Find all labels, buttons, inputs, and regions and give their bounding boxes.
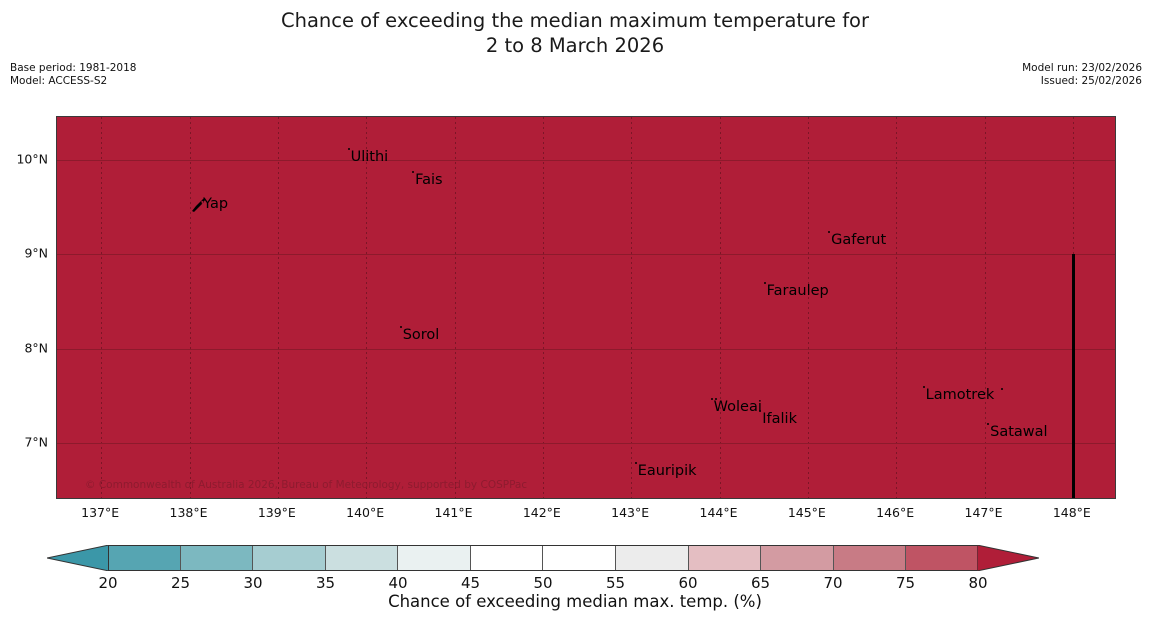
map-gridline-vertical (101, 117, 102, 498)
colorbar-gradient[interactable] (108, 545, 978, 571)
colorbar-segment (834, 545, 907, 571)
colorbar-tick-label: 40 (388, 574, 407, 592)
island-marker (764, 282, 766, 284)
map-plot-area[interactable]: YapUlithiFaisGaferutFaraulepSorolWoleaiI… (56, 116, 1116, 499)
colorbar-axis-label: Chance of exceeding median max. temp. (%… (0, 592, 1150, 611)
x-axis-tick-label: 140°E (346, 505, 384, 520)
x-axis-tick-label: 147°E (964, 505, 1002, 520)
colorbar-tick-label: 35 (316, 574, 335, 592)
y-axis-tick-label: 9°N (48, 246, 72, 261)
island-marker (711, 398, 713, 400)
header-meta-right: Model run: 23/02/2026 Issued: 25/02/2026 (1022, 62, 1142, 88)
map-gridline-vertical (631, 117, 632, 498)
island-marker (1001, 388, 1003, 390)
x-axis-tick-label: 137°E (81, 505, 119, 520)
model-text: Model: ACCESS-S2 (10, 75, 136, 88)
x-axis-tick-label: 143°E (611, 505, 649, 520)
y-axis-tick-label: 10°N (48, 151, 80, 166)
map-gridline-horizontal (57, 443, 1115, 444)
x-axis-tick-label: 144°E (699, 505, 737, 520)
colorbar-segment (471, 545, 544, 571)
boundary-line (1072, 254, 1075, 499)
colorbar-segment (326, 545, 399, 571)
map-label-faraulep: Faraulep (767, 283, 829, 299)
colorbar-segment (181, 545, 254, 571)
x-axis-tick-label: 138°E (169, 505, 207, 520)
map-gridline-vertical (543, 117, 544, 498)
colorbar-tick-label: 70 (823, 574, 842, 592)
map-gridline-vertical (278, 117, 279, 498)
colorbar-segment (398, 545, 471, 571)
island-marker (635, 462, 637, 464)
colorbar-tick-label: 50 (533, 574, 552, 592)
colorbar-segment (761, 545, 834, 571)
map-gridline-vertical (985, 117, 986, 498)
map-label-yap: Yap (203, 196, 228, 212)
map-gridline-vertical (455, 117, 456, 498)
map-gridline-vertical (808, 117, 809, 498)
map-label-fais: Fais (415, 172, 442, 188)
x-axis-tick-label: 139°E (258, 505, 296, 520)
island-marker (400, 326, 402, 328)
map-label-satawal: Satawal (990, 424, 1047, 440)
map-gridline-vertical (720, 117, 721, 498)
y-axis-tick-label: 8°N (48, 340, 72, 355)
y-axis-tick-text: 8°N (24, 340, 48, 355)
base-period-text: Base period: 1981-2018 (10, 62, 136, 75)
colorbar-segment (689, 545, 762, 571)
island-marker (828, 231, 830, 233)
colorbar-segment (616, 545, 689, 571)
island-marker (348, 148, 350, 150)
map-gridline-vertical (366, 117, 367, 498)
header-meta-left: Base period: 1981-2018 Model: ACCESS-S2 (10, 62, 136, 88)
model-run-text: Model run: 23/02/2026 (1022, 62, 1142, 75)
map-label-ulithi: Ulithi (351, 149, 389, 165)
map-label-eauripik: Eauripik (638, 463, 697, 479)
colorbar-segment (253, 545, 326, 571)
colorbar-tick-label: 55 (606, 574, 625, 592)
map-gridline-horizontal (57, 254, 1115, 255)
colorbar-segment (906, 545, 978, 571)
colorbar-tick-label: 45 (461, 574, 480, 592)
map-label-lamotrek: Lamotrek (926, 387, 995, 403)
colorbar-over-arrow-icon (977, 545, 1039, 571)
page-title: Chance of exceeding the median maximum t… (0, 8, 1150, 58)
copyright-text: © Commonwealth of Australia 2026, Bureau… (85, 479, 527, 491)
y-axis-tick-label: 7°N (48, 435, 72, 450)
island-marker (987, 423, 989, 425)
colorbar-tick-label: 20 (98, 574, 117, 592)
map-gridline-horizontal (57, 349, 1115, 350)
map-gridline-horizontal (57, 160, 1115, 161)
map-container: YapUlithiFaisGaferutFaraulepSorolWoleaiI… (56, 116, 1116, 499)
issued-text: Issued: 25/02/2026 (1022, 75, 1142, 88)
x-axis-tick-label: 148°E (1053, 505, 1091, 520)
map-gridline-vertical (896, 117, 897, 498)
map-gridline-vertical (190, 117, 191, 498)
island-marker (923, 386, 925, 388)
colorbar-tick-label: 75 (896, 574, 915, 592)
y-axis-tick-text: 7°N (24, 435, 48, 450)
colorbar-tick-label: 30 (243, 574, 262, 592)
island-marker (412, 171, 414, 173)
map-label-gaferut: Gaferut (831, 232, 886, 248)
colorbar-tick-label: 65 (751, 574, 770, 592)
x-axis-tick-label: 145°E (788, 505, 826, 520)
map-label-sorol: Sorol (403, 327, 440, 343)
y-axis-tick-text: 10°N (16, 151, 48, 166)
colorbar-tick-label: 60 (678, 574, 697, 592)
y-axis-tick-text: 9°N (24, 246, 48, 261)
colorbar-under-arrow-icon (47, 545, 109, 571)
x-axis-tick-label: 142°E (523, 505, 561, 520)
colorbar-segment (543, 545, 616, 571)
map-label-ifalik: Ifalik (762, 411, 797, 427)
colorbar-container: 20253035404550556065707580 (0, 540, 1150, 590)
colorbar-tick-label: 25 (171, 574, 190, 592)
map-label-woleai: Woleai (714, 399, 762, 415)
colorbar-segment (108, 545, 181, 571)
colorbar-tick-label: 80 (968, 574, 987, 592)
x-axis-tick-label: 146°E (876, 505, 914, 520)
x-axis-tick-label: 141°E (434, 505, 472, 520)
